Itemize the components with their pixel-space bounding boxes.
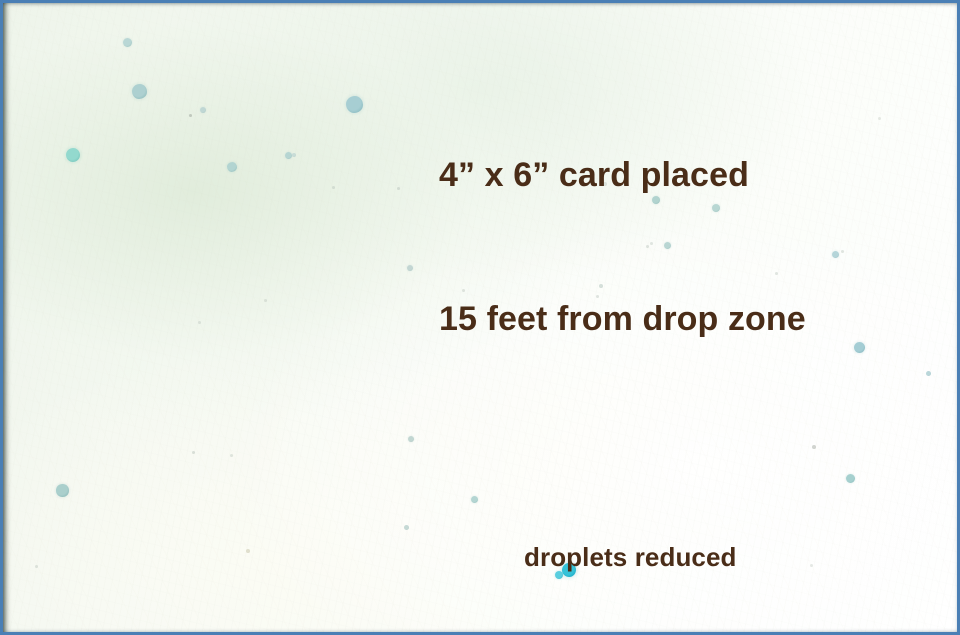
annotation-fine-mist-line1: droplets reduced — [524, 538, 737, 576]
annotation-card-distance: 4” x 6” card placed 15 feet from drop zo… — [439, 55, 806, 439]
annotation-fine-mist: droplets reduced to fine mist — [524, 462, 737, 635]
annotation-card-distance-line1: 4” x 6” card placed — [439, 151, 806, 199]
annotation-card-distance-line2: 15 feet from drop zone — [439, 295, 806, 343]
photo-frame: 4” x 6” card placed 15 feet from drop zo… — [0, 0, 960, 635]
